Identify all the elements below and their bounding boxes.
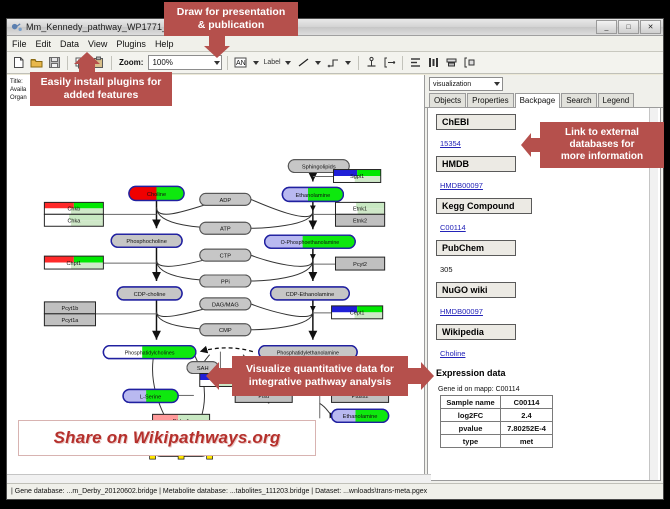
menu-bar: File Edit Data View Plugins Help: [7, 36, 663, 52]
callout-links-line2: databases for: [569, 139, 634, 151]
pathway-node-label: DAG/MAG: [212, 302, 239, 308]
callout-links-arrow: [521, 133, 542, 157]
menu-item-plugins[interactable]: Plugins: [116, 39, 146, 49]
expr-val-type: met: [501, 435, 553, 448]
svg-text:AN: AN: [236, 60, 246, 67]
pathway-node-label: CMP: [219, 328, 232, 334]
status-bar: | Gene database: ...m_Derby_20120602.bri…: [7, 483, 663, 499]
gene-node-chkb[interactable]: Chkb: [44, 202, 103, 214]
pathway-node-label: Choline: [147, 192, 166, 198]
pathway-node-label: PPi: [221, 279, 230, 285]
callout-links-line3: more information: [561, 151, 643, 163]
callout-links-line1: Link to external: [565, 127, 639, 139]
tab-backpage[interactable]: Backpage: [515, 93, 561, 108]
title-bar: Mm_Kennedy_pathway_WP1771_45176.gpml _ □…: [7, 19, 663, 36]
expr-key-pvalue: pvalue: [441, 422, 501, 435]
gene-node-pcyt1b[interactable]: Pcyt1b: [44, 302, 95, 314]
menu-item-data[interactable]: Data: [60, 39, 79, 49]
callout-visualize-arrow-left: [206, 362, 234, 390]
table-row: Sample name C00114: [441, 396, 553, 409]
chevron-down-icon[interactable]: [214, 61, 220, 65]
pathway-node-label: Sphingolipids: [302, 164, 336, 170]
pathway-node-choline-top[interactable]: Choline: [129, 186, 184, 200]
gene-node-label: Pcyt1b: [62, 306, 79, 312]
callout-visualize-arrow-right: [406, 362, 434, 390]
stack-tool-icon[interactable]: [444, 55, 459, 70]
callout-visualize: Visualize quantitative data for integrat…: [232, 356, 408, 396]
pathway-node-label: Phosphatidylcholines: [125, 351, 175, 357]
expr-val-log2fc: 2.4: [501, 409, 553, 422]
toolbar-separator-5: [402, 56, 403, 70]
expr-val-sample-name: C00114: [501, 396, 553, 409]
gene-node-sgpl1[interactable]: Sgpl1: [334, 170, 381, 183]
pathway-node-label: Ethanolamine: [343, 414, 378, 420]
toolbar-separator-4: [358, 56, 359, 70]
pathway-node-ctp[interactable]: CTP: [200, 249, 251, 261]
pathway-node-label: L-Serine: [140, 394, 161, 400]
db-link-hmdb[interactable]: HMDB00097: [440, 181, 483, 190]
zoom-label: Zoom:: [119, 58, 143, 67]
pathway-node-label: ADP: [219, 198, 231, 204]
pathway-node-label: CTP: [220, 253, 232, 259]
tab-search[interactable]: Search: [561, 93, 596, 107]
expr-key-sample-name: Sample name: [441, 396, 501, 409]
pathway-node-cmp[interactable]: CMP: [200, 324, 251, 336]
gene-node-label: Etnk2: [353, 218, 367, 224]
menu-item-help[interactable]: Help: [155, 39, 174, 49]
pathway-node-ppi[interactable]: PPi: [200, 275, 251, 287]
pathway-node-ethanolamine1[interactable]: Ethanolamine: [282, 187, 343, 201]
expression-data-heading: Expression data: [436, 368, 654, 378]
gene-node-chpt1[interactable]: Chpt1: [44, 256, 103, 269]
db-link-kegg[interactable]: C00114: [440, 223, 466, 232]
line-tool-dropdown[interactable]: [314, 56, 323, 69]
expr-val-pvalue: 7.80252E-4: [501, 422, 553, 435]
window-controls: _ □ ✕: [596, 20, 661, 34]
callout-plugins-arrow: [74, 52, 100, 74]
minimize-button[interactable]: _: [596, 20, 617, 34]
db-header-chebi: ChEBI: [436, 114, 516, 130]
pathway-node-label: Phosphocholine: [126, 239, 166, 245]
gene-node-cept1[interactable]: Cept1: [332, 306, 383, 319]
expression-table: Sample name C00114 log2FC 2.4 pvalue 7.8…: [440, 395, 553, 448]
pathway-node-label: CDP-choline: [134, 292, 166, 298]
db-link-wikipedia[interactable]: Choline: [440, 349, 465, 358]
callout-plugins: Easily install plugins for added feature…: [30, 72, 172, 106]
gene-node-label: Pcyt2: [353, 262, 367, 268]
menu-item-edit[interactable]: Edit: [36, 39, 52, 49]
zoom-value: 100%: [152, 58, 172, 67]
visualization-dropdown-value: visualization: [433, 81, 471, 88]
toolbar: Zoom: 100% AN Label: [7, 52, 663, 74]
gene-node-label: Chpt1: [67, 261, 82, 267]
pathway-node-label: ATP: [220, 227, 231, 233]
expr-key-log2fc: log2FC: [441, 409, 501, 422]
callout-draw-arrow: [204, 36, 230, 58]
callout-plugins-line2: added features: [64, 89, 139, 102]
callout-draw-line1: Draw for presentation: [177, 6, 286, 19]
gene-node-pcyt1a[interactable]: Pcyt1a: [44, 314, 95, 326]
pathway-node-o-phosphoethanolamine[interactable]: O-Phosphoethanolamine: [265, 235, 355, 248]
db-header-pubchem: PubChem: [436, 240, 516, 256]
db-header-kegg: Kegg Compound: [436, 198, 532, 214]
callout-share: Share on Wikipathways.org: [18, 420, 316, 456]
toolbar-separator-2: [111, 56, 112, 70]
align-tool-icon[interactable]: [408, 55, 423, 70]
label-tool-label: Label: [263, 59, 280, 66]
elbow-line-tool-dropdown[interactable]: [344, 56, 353, 69]
side-panel-tabs: Objects Properties Backpage Search Legen…: [425, 93, 663, 108]
pathway-node-ethanolamine2[interactable]: Ethanolamine: [332, 409, 389, 422]
callout-visualize-line1: Visualize quantitative data for: [246, 363, 394, 376]
gene-node-label: Cept1: [350, 311, 365, 317]
toolbar-separator-1: [67, 56, 68, 70]
tab-properties[interactable]: Properties: [467, 93, 513, 107]
gene-node-label: Chka: [67, 218, 81, 224]
pathway-node-cdp-choline[interactable]: CDP-choline: [117, 287, 182, 300]
pathway-node-cdp-ethanolamine[interactable]: CDP-Ethanolamine: [271, 287, 350, 300]
gene-node-etnk2[interactable]: Etnk2: [335, 214, 384, 226]
gene-node-label: Etnk1: [353, 207, 367, 213]
expr-key-type: type: [441, 435, 501, 448]
db-link-chebi[interactable]: 15354: [440, 139, 461, 148]
gene-id-line: Gene id on mapp: C00114: [438, 386, 654, 393]
callout-draw-line2: & publication: [198, 19, 265, 32]
db-value-pubchem: 305: [440, 265, 453, 274]
pathway-node-label: CDP-Ethanolamine: [286, 292, 335, 298]
text-tool-dropdown[interactable]: [251, 56, 260, 69]
callout-links: Link to external databases for more info…: [540, 122, 664, 168]
status-bar-text: | Gene database: ...m_Derby_20120602.bri…: [11, 488, 427, 495]
pathway-node-l-serine-left[interactable]: L-Serine: [123, 389, 178, 402]
pathway-node-phosphatidylcholines[interactable]: Phosphatidylcholines: [103, 346, 195, 359]
canvas-horizontal-scrollbar[interactable]: [7, 474, 431, 483]
anchor-tool-icon[interactable]: [364, 55, 379, 70]
close-button[interactable]: ✕: [640, 20, 661, 34]
new-file-icon[interactable]: [11, 55, 26, 70]
elbow-line-tool-icon[interactable]: [326, 55, 341, 70]
text-tool-icon[interactable]: AN: [233, 55, 248, 70]
callout-draw: Draw for presentation & publication: [164, 2, 298, 36]
callout-visualize-line2: integrative pathway analysis: [249, 376, 391, 389]
distribute-tool-icon[interactable]: [426, 55, 441, 70]
tab-legend[interactable]: Legend: [598, 93, 635, 107]
line-tool-icon[interactable]: [296, 55, 311, 70]
gene-node-etnk1[interactable]: Etnk1: [335, 202, 384, 214]
db-header-hmdb: HMDB: [436, 156, 516, 172]
bracket-tool-icon[interactable]: [382, 55, 397, 70]
pathway-node-label: O-Phosphoethanolamine: [281, 240, 340, 246]
gene-node-pcyt2[interactable]: Pcyt2: [335, 257, 384, 270]
save-icon[interactable]: [47, 55, 62, 70]
db-link-nugowiki[interactable]: HMDB00097: [440, 307, 483, 316]
visualization-row: visualization: [425, 75, 663, 93]
gene-node-label: Chkb: [67, 207, 80, 213]
chevron-down-icon[interactable]: [494, 82, 500, 86]
pathway-node-adp[interactable]: ADP: [200, 193, 251, 205]
pathway-node-dagmag[interactable]: DAG/MAG: [200, 298, 251, 310]
gene-node-chka[interactable]: Chka: [44, 214, 103, 226]
pathway-node-label: Ethanolamine: [295, 193, 330, 199]
menu-item-view[interactable]: View: [88, 39, 107, 49]
callout-plugins-line1: Easily install plugins for: [41, 76, 162, 89]
app-icon: [11, 22, 22, 33]
db-header-nugowiki: NuGO wiki: [436, 282, 516, 298]
open-folder-icon[interactable]: [29, 55, 44, 70]
screenshot-root: Mm_Kennedy_pathway_WP1771_45176.gpml _ □…: [0, 0, 670, 509]
table-row: log2FC 2.4: [441, 409, 553, 422]
label-tool-dropdown[interactable]: [284, 56, 293, 69]
pathway-node-phosphocholine[interactable]: Phosphocholine: [111, 234, 182, 247]
tab-objects[interactable]: Objects: [429, 93, 466, 107]
pathway-node-atp[interactable]: ATP: [200, 222, 251, 234]
order-tool-icon[interactable]: [462, 55, 477, 70]
db-header-wikipedia: Wikipedia: [436, 324, 516, 340]
gene-node-label: Pcyt1a: [62, 318, 80, 324]
table-row: type met: [441, 435, 553, 448]
maximize-button[interactable]: □: [618, 20, 639, 34]
gene-node-label: Sgpl1: [350, 174, 364, 180]
table-row: pvalue 7.80252E-4: [441, 422, 553, 435]
menu-item-file[interactable]: File: [12, 39, 27, 49]
callout-share-text: Share on Wikipathways.org: [54, 428, 281, 448]
visualization-dropdown[interactable]: visualization: [429, 77, 503, 91]
